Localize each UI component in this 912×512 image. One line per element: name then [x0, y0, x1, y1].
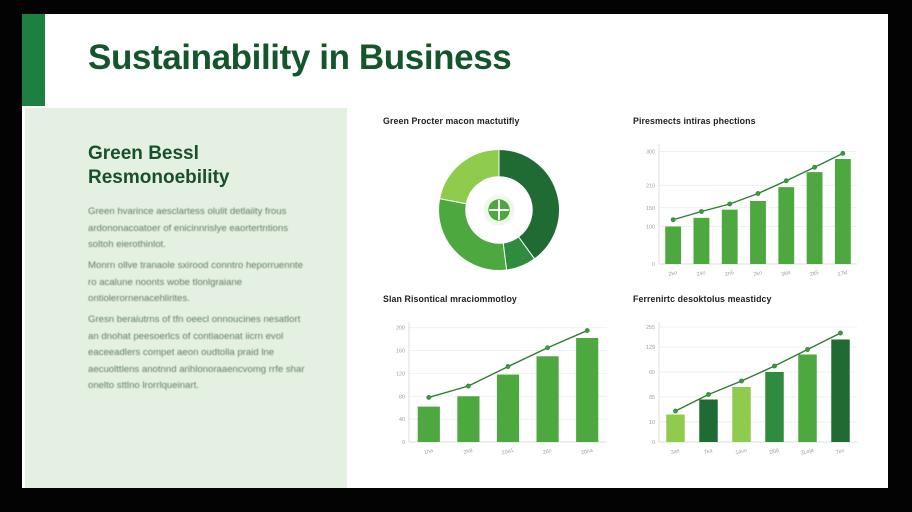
- trend-marker[interactable]: [699, 209, 703, 213]
- y-axis-tick-label: 85: [649, 395, 655, 401]
- trend-marker[interactable]: [506, 364, 510, 368]
- x-axis-tick-label: 2ko: [753, 270, 763, 278]
- y-axis-tick-label: 100: [646, 225, 655, 231]
- donut-chart: [379, 132, 619, 288]
- screenshot-frame: Sustainability in Business Green Bessl R…: [0, 0, 912, 512]
- x-axis-tick-label: 3Loja: [800, 448, 814, 457]
- trend-marker[interactable]: [546, 346, 550, 350]
- bar[interactable]: [537, 356, 559, 442]
- x-axis-tick-label: 7ka: [703, 448, 713, 456]
- trend-marker[interactable]: [706, 392, 710, 396]
- text-panel: Green Bessl Resmonoebility Green hvarinc…: [25, 108, 347, 488]
- bar[interactable]: [497, 375, 519, 442]
- bar[interactable]: [418, 407, 440, 442]
- x-axis-tick-label: 2h8: [463, 448, 473, 456]
- panel-paragraph: Monrn ollve tranaole sxirood conntro hep…: [88, 258, 310, 308]
- chart-title: Slan Risontical mraciommotloy: [383, 294, 619, 304]
- bar[interactable]: [807, 172, 823, 264]
- y-axis-tick-label: 200: [396, 326, 405, 332]
- trend-marker[interactable]: [728, 202, 732, 206]
- x-axis-tick-label: 2do: [542, 448, 552, 456]
- bar[interactable]: [457, 396, 479, 442]
- trend-marker[interactable]: [466, 384, 470, 388]
- x-axis-tick-label: 20a1: [501, 448, 514, 457]
- chart-card-donut: Green Procter macon mactutifly: [379, 114, 619, 292]
- bar[interactable]: [694, 218, 710, 264]
- x-axis-tick-label: 2ko: [668, 270, 678, 278]
- trend-marker[interactable]: [671, 218, 675, 222]
- x-axis-tick-label: 7kn: [835, 448, 845, 456]
- chart-title: Ferrenirtc desoktolus meastidcy: [633, 294, 869, 304]
- trend-marker[interactable]: [841, 151, 845, 155]
- x-axis-tick-label: 14vo: [735, 448, 748, 457]
- trend-marker[interactable]: [784, 179, 788, 183]
- trend-marker[interactable]: [427, 395, 431, 399]
- y-axis-tick-label: 10: [649, 420, 655, 426]
- trend-marker[interactable]: [756, 191, 760, 195]
- bar[interactable]: [778, 187, 794, 264]
- y-axis-tick-label: 129: [646, 345, 655, 351]
- chart-card-bar-1: Piresmects intiras phections 01001502103…: [629, 114, 869, 292]
- x-axis-tick-label: 2l08: [769, 448, 780, 456]
- trend-marker[interactable]: [812, 165, 816, 169]
- y-axis-tick-label: 150: [646, 206, 655, 212]
- trend-marker[interactable]: [838, 331, 842, 335]
- y-axis-tick-label: 0: [402, 440, 405, 446]
- bar-chart-plot: 01085601292553ae7ka14vo2l083Loja7kn: [633, 314, 865, 464]
- x-axis-tick-label: 1ha: [423, 448, 433, 456]
- panel-paragraph: Gresn beraiutrns of tfn oeecl onnoucines…: [88, 312, 310, 395]
- y-axis-tick-label: 60: [649, 370, 655, 376]
- accent-bar: [22, 14, 45, 106]
- charts-grid: Green Procter macon mactutifly Piresmect…: [367, 108, 885, 480]
- bar[interactable]: [576, 338, 598, 442]
- panel-paragraph: Green hvarince aesclartess olulit detlai…: [88, 204, 310, 254]
- y-axis-tick-label: 80: [399, 394, 405, 400]
- trend-marker[interactable]: [772, 364, 776, 368]
- y-axis-tick-label: 350: [646, 136, 655, 137]
- y-axis-tick-label: 300: [646, 150, 655, 156]
- y-axis-tick-label: 0: [652, 440, 655, 446]
- y-axis-tick-label: 120: [396, 371, 405, 377]
- bar[interactable]: [831, 340, 849, 443]
- bar-chart-plot: 040801201602001ha2h820a12do20na: [383, 314, 615, 464]
- x-axis-tick-label: 3ae: [670, 448, 680, 456]
- chart-title: Piresmects intiras phections: [633, 116, 869, 126]
- panel-heading: Green Bessl Resmonoebility: [88, 142, 318, 190]
- y-axis-tick-label: 0: [652, 262, 655, 268]
- trend-marker[interactable]: [739, 379, 743, 383]
- x-axis-tick-label: 20na: [580, 448, 593, 457]
- bar[interactable]: [699, 400, 717, 443]
- y-axis-tick-label: 40: [399, 417, 405, 423]
- chart-card-bar-3: Ferrenirtc desoktolus meastidcy 01085601…: [629, 292, 869, 470]
- bar[interactable]: [666, 415, 684, 443]
- bar[interactable]: [665, 227, 681, 265]
- x-axis-tick-label: 2h5: [724, 270, 734, 278]
- bar[interactable]: [732, 387, 750, 442]
- page-title: Sustainability in Business: [88, 38, 511, 78]
- chart-title: Green Procter macon mactutifly: [383, 116, 619, 126]
- presentation-slide: Sustainability in Business Green Bessl R…: [22, 14, 888, 488]
- bar[interactable]: [835, 159, 851, 264]
- y-axis-tick-label: 210: [646, 183, 655, 189]
- trend-marker[interactable]: [673, 409, 677, 413]
- trend-marker[interactable]: [585, 328, 589, 332]
- x-axis-tick-label: 2tt5: [809, 270, 819, 278]
- x-axis-tick-label: 27kl: [837, 270, 848, 278]
- y-axis-tick-label: 160: [396, 349, 405, 355]
- chart-card-bar-2: Slan Risontical mraciommotloy 0408012016…: [379, 292, 619, 470]
- x-axis-tick-label: 24o: [696, 270, 706, 278]
- bar[interactable]: [722, 210, 738, 264]
- bar-chart-plot: 01001502103003502ko24o2h52ko3kls2tt527kl: [633, 136, 865, 286]
- trend-marker[interactable]: [805, 347, 809, 351]
- y-axis-tick-label: 255: [646, 325, 655, 331]
- x-axis-tick-label: 3kls: [781, 270, 792, 278]
- bar[interactable]: [798, 355, 816, 443]
- bar[interactable]: [750, 201, 766, 264]
- bar[interactable]: [765, 372, 783, 442]
